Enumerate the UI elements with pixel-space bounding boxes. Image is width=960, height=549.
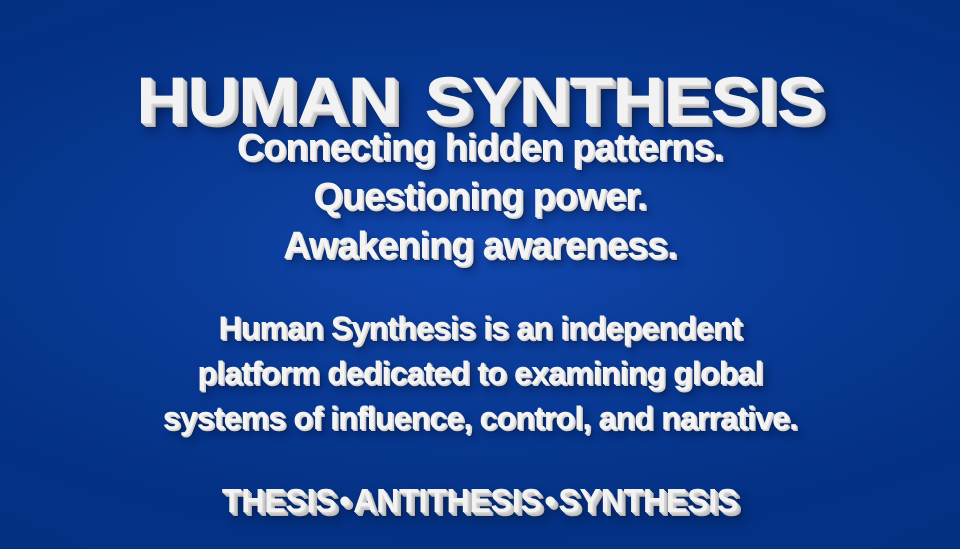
description-line-3: systems of influence, control, and narra… [0, 396, 960, 441]
bullet-separator-icon: • [336, 480, 353, 522]
tagline-item-antithesis: ANTITHESIS [353, 482, 541, 519]
bullet-separator-icon: • [542, 480, 559, 522]
subtitle-line-2: Questioning power. [5, 173, 955, 222]
description-line-1: Human Synthesis is an independent [0, 306, 960, 351]
tagline-item-synthesis: SYNTHESIS [558, 482, 738, 519]
description-block: Human Synthesis is an independent platfo… [0, 306, 960, 441]
tagline: THESIS•ANTITHESIS•SYNTHESIS [14, 480, 945, 522]
subtitle-block: Connecting hidden patterns. Questioning … [0, 124, 960, 271]
tagline-item-thesis: THESIS [222, 482, 336, 519]
description-line-2: platform dedicated to examining global [0, 351, 960, 396]
poster-canvas: HUMAN SYNTHESIS Connecting hidden patter… [0, 0, 960, 549]
subtitle-line-1: Connecting hidden patterns. [5, 124, 955, 173]
poster-content: HUMAN SYNTHESIS Connecting hidden patter… [0, 0, 960, 549]
subtitle-line-3: Awakening awareness. [5, 222, 955, 271]
